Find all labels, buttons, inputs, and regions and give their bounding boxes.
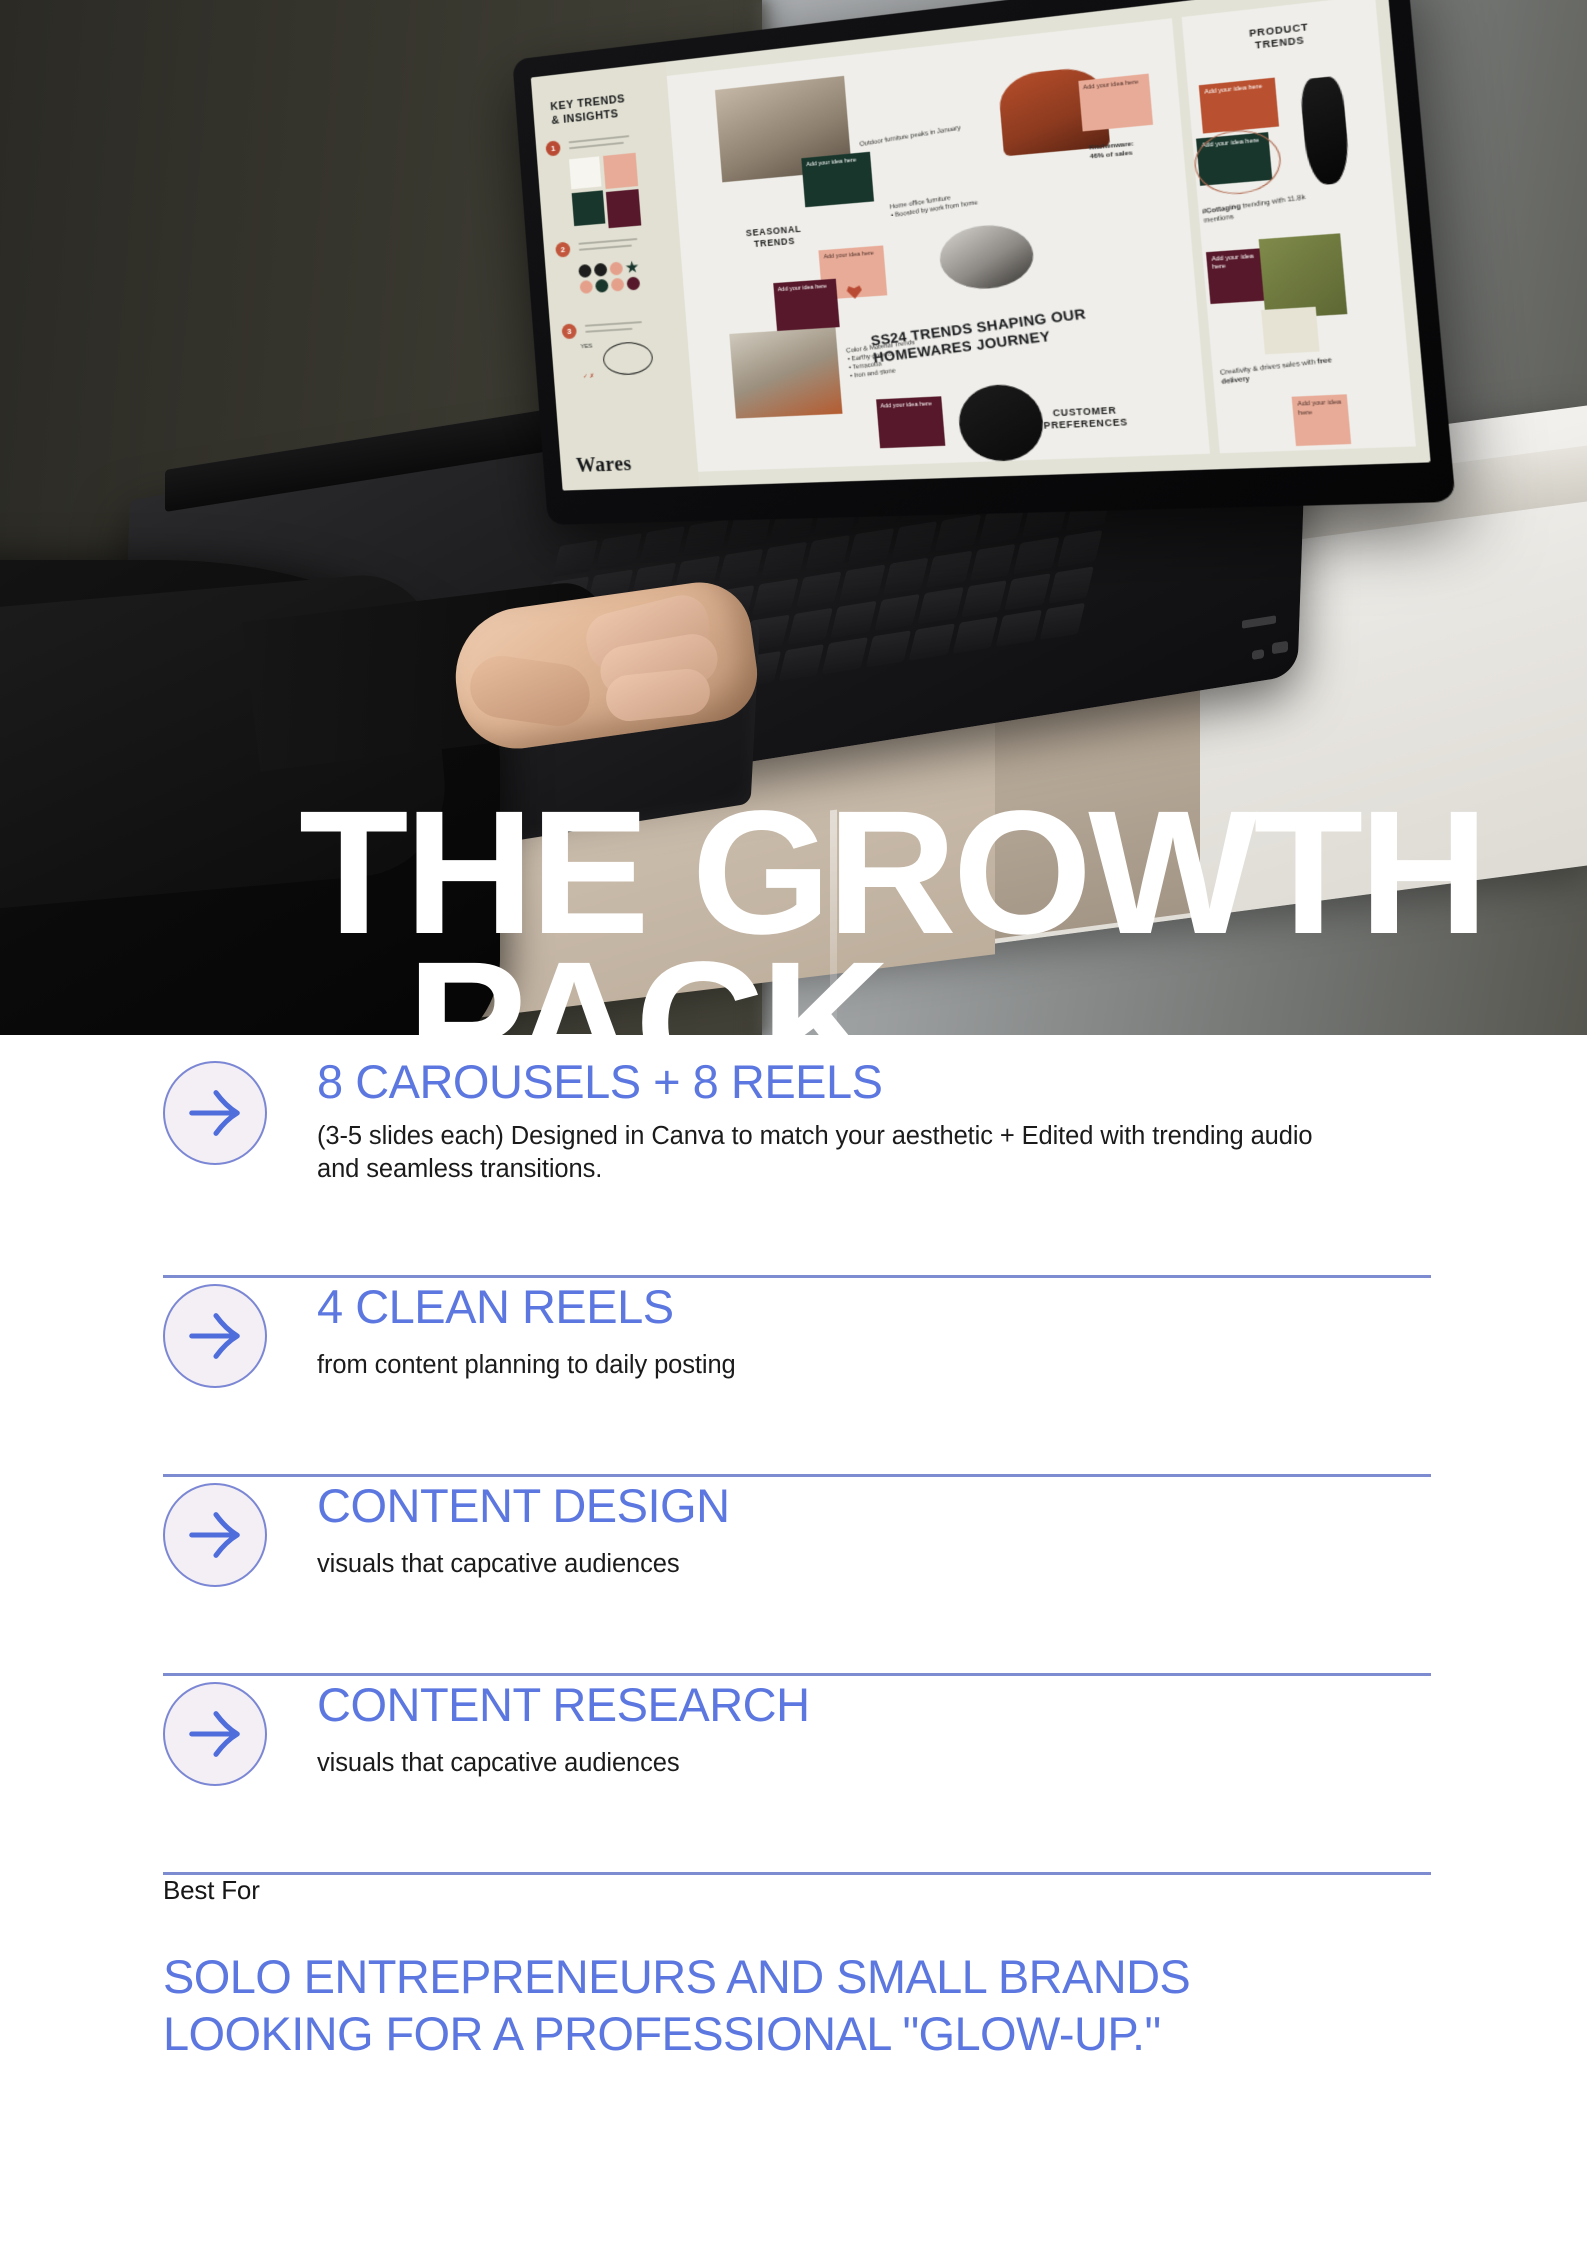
- arrow-right-circle-icon: [163, 1682, 267, 1786]
- slide-main-column: Add your idea here Outdoor furniture pea…: [667, 18, 1210, 472]
- list-item-heading: CONTENT DESIGN: [317, 1481, 1587, 1532]
- sticky-note-green-1: Add your idea here: [802, 152, 875, 207]
- sticky-note-maroon-2: Add your idea here: [876, 396, 946, 449]
- best-for-heading: SOLO ENTREPRENEURS AND SMALL BRANDS LOOK…: [163, 1948, 1463, 2063]
- list-item-heading: 8 CAROUSELS + 8 REELS: [317, 1057, 1587, 1108]
- swatch-green: [572, 190, 606, 226]
- list-item-text: CONTENT RESEARCH visuals that capcative …: [317, 1676, 1587, 1780]
- list-item[interactable]: 8 CAROUSELS + 8 REELS (3-5 slides each) …: [0, 1055, 1587, 1275]
- sticky-note-rust: Add your idea here: [1199, 78, 1280, 134]
- sticky-note-maroon-1: Add your idea here: [773, 278, 840, 331]
- sticker-row: [578, 260, 641, 294]
- list-item[interactable]: 4 CLEAN REELS from content planning to d…: [0, 1278, 1587, 1474]
- page-title: THE GROWTH PACK: [0, 798, 1485, 1035]
- swatch-maroon: [606, 189, 641, 228]
- photo-wassily-chair: [937, 222, 1036, 292]
- list-item-body: from content planning to daily posting: [317, 1349, 1327, 1383]
- list-item-text: 4 CLEAN REELS from content planning to d…: [317, 1278, 1587, 1382]
- list-item-body: visuals that capcative audiences: [317, 1548, 1327, 1582]
- sticky-note-blush-3: Add your idea here: [1292, 395, 1351, 446]
- list-item-body: visuals that capcative audiences: [317, 1747, 1327, 1781]
- label-customer-preferences: CUSTOMERPREFERENCES: [1031, 404, 1141, 433]
- best-for-line-1: SOLO ENTREPRENEURS AND SMALL BRANDS: [163, 1948, 1463, 2005]
- step-number-2: 2: [555, 242, 571, 258]
- swatch-blush: [603, 153, 638, 189]
- hero-image: KEY TRENDS& INSIGHTS 1 2: [0, 0, 1587, 1035]
- photo-black-vase: [1299, 75, 1352, 186]
- poster-page: KEY TRENDS& INSIGHTS 1 2: [0, 0, 1587, 2245]
- photo-olive-texture: [1258, 233, 1347, 318]
- key-trends-title: KEY TRENDS& INSIGHTS: [550, 89, 660, 128]
- list-item-text: CONTENT DESIGN visuals that capcative au…: [317, 1477, 1587, 1581]
- label-seasonal-trends: SEASONALTRENDS: [721, 222, 828, 253]
- laptop-screen: KEY TRENDS& INSIGHTS 1 2: [531, 0, 1431, 491]
- list-item[interactable]: CONTENT DESIGN visuals that capcative au…: [0, 1477, 1587, 1673]
- moodboard-slide: KEY TRENDS& INSIGHTS 1 2: [531, 0, 1431, 491]
- sticky-note-maroon-3: Add your idea here: [1206, 248, 1268, 305]
- feature-list: 8 CAROUSELS + 8 REELS (3-5 slides each) …: [0, 1055, 1587, 1875]
- label-product-trends: PRODUCTTRENDS: [1183, 13, 1379, 59]
- sticky-note-blush-2: Add your idea here: [1078, 73, 1153, 132]
- laptop-lid: KEY TRENDS& INSIGHTS 1 2: [512, 0, 1456, 525]
- list-item-body: (3-5 slides each) Designed in Canva to m…: [317, 1120, 1327, 1187]
- list-item[interactable]: CONTENT RESEARCH visuals that capcative …: [0, 1676, 1587, 1872]
- list-item-heading: CONTENT RESEARCH: [317, 1680, 1587, 1731]
- arrow-right-circle-icon: [163, 1284, 267, 1388]
- circle-mark: [602, 341, 654, 376]
- arrow-right-circle-icon: [163, 1483, 267, 1587]
- list-item-heading: 4 CLEAN REELS: [317, 1282, 1587, 1333]
- wares-logo: Wares: [575, 453, 632, 478]
- best-for-section: Best For SOLO ENTREPRENEURS AND SMALL BR…: [163, 1875, 1463, 2063]
- step-number-3: 3: [561, 323, 577, 339]
- best-for-line-2: LOOKING FOR A PROFESSIONAL "GLOW-UP.": [163, 2005, 1463, 2062]
- slide-right-column: PRODUCTTRENDS Add your idea here Add you…: [1181, 0, 1415, 453]
- step-number-1: 1: [545, 140, 561, 156]
- swatch-cream: [569, 156, 601, 189]
- arrow-right-circle-icon: [163, 1061, 267, 1165]
- best-for-label: Best For: [163, 1875, 1463, 1906]
- photo-interior: [729, 327, 842, 418]
- list-item-text: 8 CAROUSELS + 8 REELS (3-5 slides each) …: [317, 1055, 1587, 1187]
